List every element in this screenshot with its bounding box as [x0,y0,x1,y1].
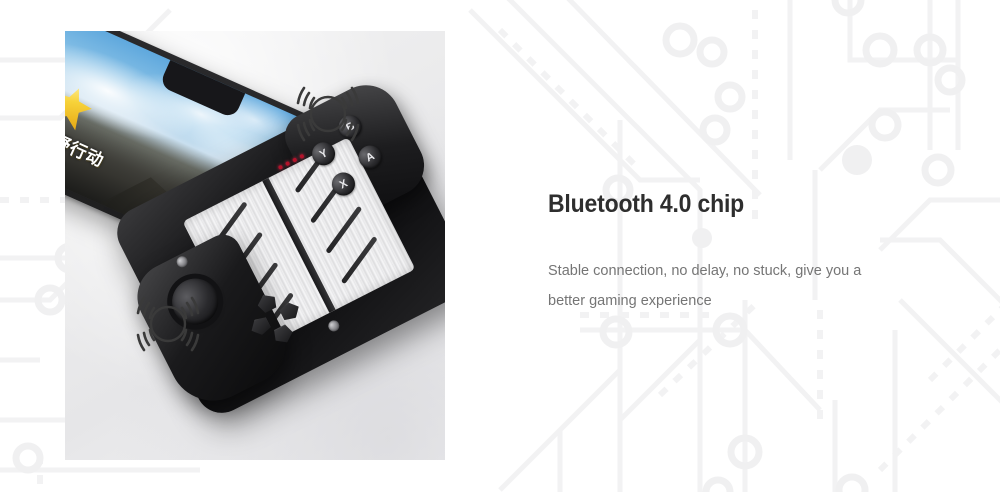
metal-slot [325,206,362,254]
metal-slot [341,236,378,284]
vibration-icon-top [292,78,364,150]
feature-description: Stable connection, no delay, no stuck, g… [548,257,893,316]
vibration-icon-bottom [132,288,204,360]
feature-title: Bluetooth 4.0 chip [548,190,916,219]
product-scene: 荒野行动 点击开始游戏 [65,31,445,460]
product-feature-banner: 荒野行动 点击开始游戏 [0,0,1000,492]
feature-text-column: Bluetooth 4.0 chip Stable connection, no… [548,190,948,316]
product-image: 荒野行动 点击开始游戏 [65,31,445,460]
